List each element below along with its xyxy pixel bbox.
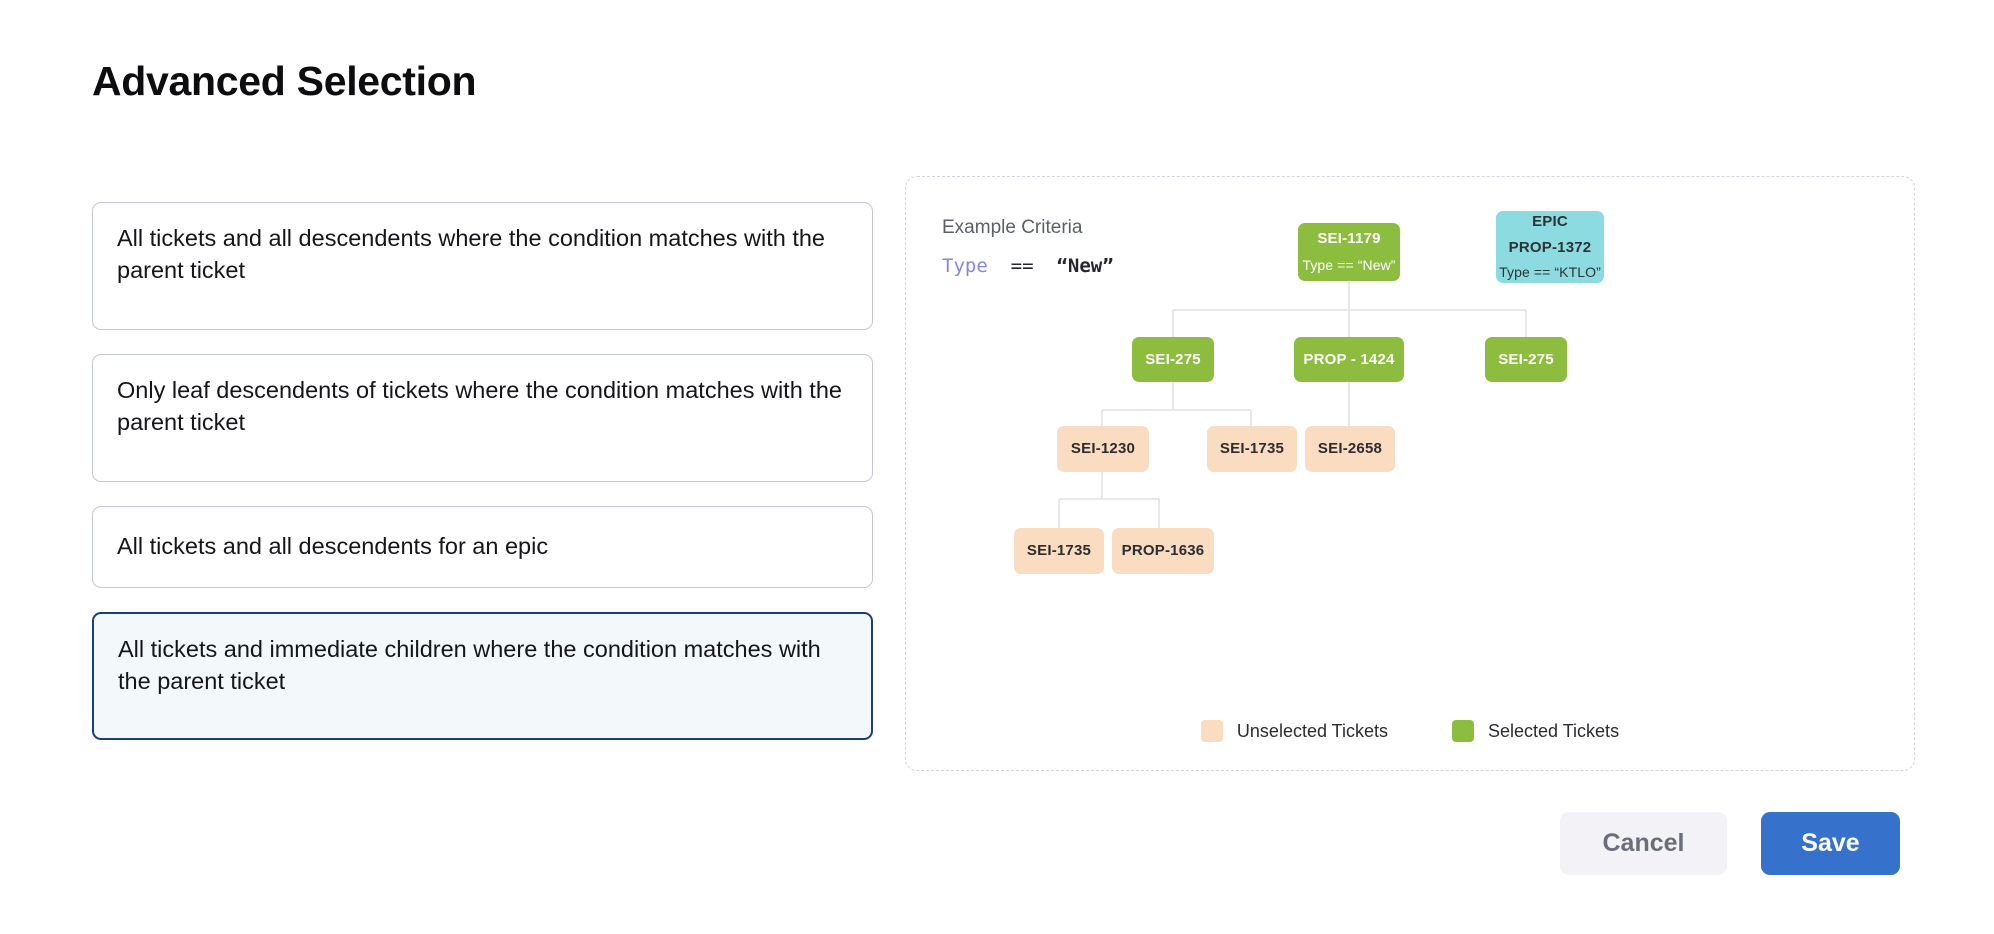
advanced-selection-page: Advanced Selection All tickets and all d… (0, 0, 1994, 934)
tree-node-sei-1230[interactable]: SEI-1230 (1057, 426, 1149, 472)
diagram-legend: Unselected Tickets Selected Tickets (906, 720, 1914, 742)
tree-node-sei-1735-row4[interactable]: SEI-1735 (1014, 528, 1104, 574)
tree-node-sei-275-right[interactable]: SEI-275 (1485, 337, 1567, 382)
tree-node-epic[interactable]: EPIC PROP-1372 Type == “KTLO” (1496, 211, 1604, 283)
legend-item-unselected: Unselected Tickets (1201, 720, 1388, 742)
selection-option-label: Only leaf descendents of tickets where t… (117, 375, 848, 439)
ticket-tree: SEI-1179 Type == “New” EPIC PROP-1372 Ty… (906, 177, 1914, 770)
tree-node-id: SEI-275 (1498, 350, 1554, 370)
tree-node-id: SEI-2658 (1318, 439, 1382, 459)
selection-option-label: All tickets and all descendents for an e… (117, 531, 848, 563)
cancel-button[interactable]: Cancel (1560, 812, 1727, 875)
tree-node-prop-1636[interactable]: PROP-1636 (1112, 528, 1214, 574)
page-title: Advanced Selection (92, 58, 476, 105)
selection-option-epic-descendents[interactable]: All tickets and all descendents for an e… (92, 506, 873, 588)
tree-node-prop-1424[interactable]: PROP - 1424 (1294, 337, 1404, 382)
legend-label: Unselected Tickets (1237, 721, 1388, 742)
tree-node-id: SEI-1179 (1317, 229, 1380, 249)
tree-connectors (906, 177, 1916, 772)
save-button[interactable]: Save (1761, 812, 1900, 875)
tree-node-type: EPIC (1532, 212, 1568, 232)
tree-node-condition: Type == “New” (1302, 256, 1395, 274)
unselected-swatch-icon (1201, 720, 1223, 742)
dialog-footer: Cancel Save (1560, 812, 1900, 875)
selected-swatch-icon (1452, 720, 1474, 742)
tree-node-id: SEI-1230 (1071, 439, 1135, 459)
tree-node-sei-2658[interactable]: SEI-2658 (1305, 426, 1395, 472)
tree-node-sei-275-left[interactable]: SEI-275 (1132, 337, 1214, 382)
example-diagram-panel: Example Criteria Type == “New” (905, 176, 1915, 771)
tree-node-condition: Type == “KTLO” (1499, 263, 1601, 281)
selection-option-all-descendents[interactable]: All tickets and all descendents where th… (92, 202, 873, 330)
selection-option-label: All tickets and all descendents where th… (117, 223, 848, 287)
tree-node-id: PROP - 1424 (1303, 350, 1394, 370)
tree-node-id: SEI-1735 (1220, 439, 1284, 459)
tree-node-id: PROP-1636 (1122, 541, 1205, 561)
tree-node-id: PROP-1372 (1509, 238, 1592, 258)
selection-option-label: All tickets and immediate children where… (118, 634, 847, 698)
tree-node-id: SEI-275 (1145, 350, 1201, 370)
legend-item-selected: Selected Tickets (1452, 720, 1619, 742)
selection-option-immediate-children[interactable]: All tickets and immediate children where… (92, 612, 873, 740)
tree-node-root[interactable]: SEI-1179 Type == “New” (1298, 223, 1400, 281)
selection-options-list: All tickets and all descendents where th… (92, 202, 873, 764)
tree-node-id: SEI-1735 (1027, 541, 1091, 561)
legend-label: Selected Tickets (1488, 721, 1619, 742)
tree-node-sei-1735-row3[interactable]: SEI-1735 (1207, 426, 1297, 472)
selection-option-leaf-descendents[interactable]: Only leaf descendents of tickets where t… (92, 354, 873, 482)
